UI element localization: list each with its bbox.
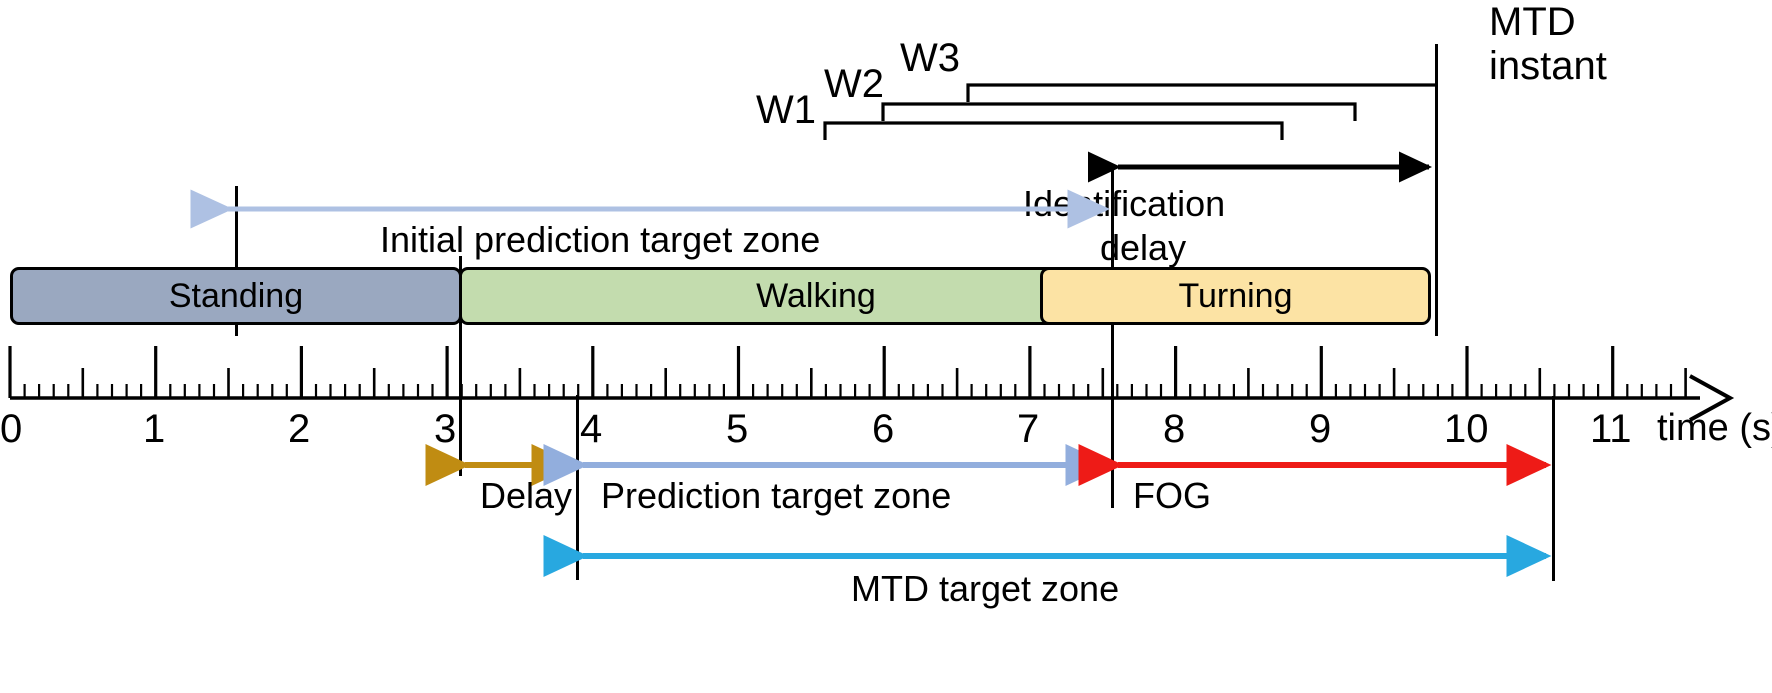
span-label-prediction-target-zone: Prediction target zone [601, 475, 951, 517]
span-label-initial-prediction-target-zone: Initial prediction target zone [380, 219, 820, 261]
timeline-diagram: W1 W2 W3 MTD instant Initial prediction … [0, 0, 1772, 693]
window-label-w1: W1 [756, 88, 816, 133]
axis-ticks [8, 346, 1687, 398]
axis-tick-label: 10 [1444, 407, 1489, 452]
axis-unit-label: time (s) [1657, 407, 1772, 450]
phase-bar-turning: Turning [1040, 267, 1431, 325]
axis-tick-label: 9 [1309, 407, 1331, 452]
axis-tick-label: 2 [288, 407, 310, 452]
axis-tick-label: 8 [1163, 407, 1185, 452]
mtd-instant-label-line2: instant [1489, 44, 1607, 89]
marker-line-mtd-instant [1435, 44, 1438, 336]
axis-tick-label: 5 [726, 407, 748, 452]
axis-tick-label: 11 [1590, 407, 1632, 452]
window-bracket-w2 [883, 104, 1355, 121]
span-label-mtd-target-zone: MTD target zone [851, 568, 1119, 610]
span-label-identification-delay-line1: Identification [1023, 183, 1225, 225]
axis-tick-label: 4 [580, 407, 602, 452]
phase-bar-standing: Standing [10, 267, 462, 325]
phase-label-standing: Standing [169, 277, 303, 316]
window-bracket-w3 [968, 85, 1435, 102]
phase-label-turning: Turning [1178, 277, 1292, 316]
axis-tick-label: 0 [0, 407, 22, 452]
window-label-w3: W3 [900, 36, 960, 81]
marker-line-mtd-zone-end [1552, 396, 1555, 581]
axis-tick-label: 3 [434, 407, 456, 452]
span-label-fog: FOG [1133, 475, 1211, 517]
span-label-delay: Delay [480, 475, 572, 517]
window-bracket-w1 [825, 123, 1282, 140]
marker-line-delay-end [576, 395, 579, 580]
axis-tick-label: 7 [1017, 407, 1039, 452]
axis-tick-label: 6 [872, 407, 894, 452]
mtd-instant-label-line1: MTD [1489, 0, 1576, 45]
phase-label-walking: Walking [756, 277, 876, 316]
axis-tick-label: 1 [143, 407, 165, 452]
span-label-identification-delay-line2: delay [1100, 227, 1186, 269]
window-label-w2: W2 [824, 62, 884, 107]
